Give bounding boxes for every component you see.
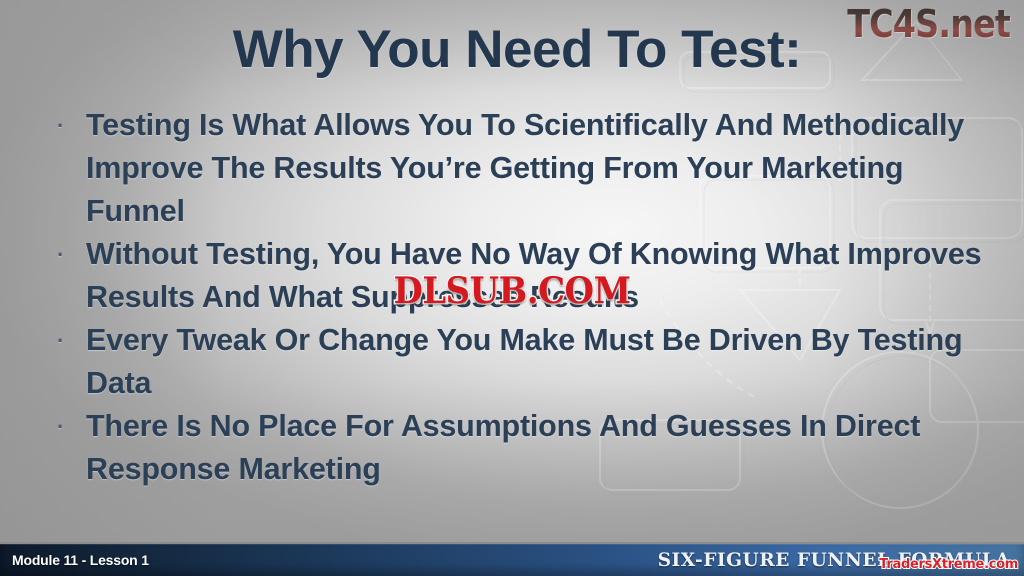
bullet-point-icon: · (48, 319, 86, 362)
list-item-text: There Is No Place For Assumptions And Gu… (86, 405, 983, 491)
bullet-point-icon: · (48, 233, 86, 276)
watermark-tc4s: TC4S.net (847, 2, 1010, 46)
list-item: · Every Tweak Or Change You Make Must Be… (48, 319, 983, 405)
list-item: · Testing Is What Allows You To Scientif… (48, 104, 983, 233)
list-item: · There Is No Place For Assumptions And … (48, 405, 983, 491)
list-item-text: Every Tweak Or Change You Make Must Be D… (86, 319, 983, 405)
watermark-dlsub: DLSUB.COM (393, 270, 630, 312)
bullet-point-icon: · (48, 405, 86, 448)
footer-module-label: Module 11 - Lesson 1 (12, 552, 149, 568)
watermark-tradersxtreme: TradersXtreme.com (879, 557, 1018, 572)
presentation-slide: Why You Need To Test: · Testing Is What … (0, 0, 1024, 576)
slide-footer-bar: Module 11 - Lesson 1 SIX-FIGURE FUNNEL F… (0, 542, 1024, 576)
list-item-text: Testing Is What Allows You To Scientific… (86, 104, 983, 233)
bullet-point-icon: · (48, 104, 86, 147)
